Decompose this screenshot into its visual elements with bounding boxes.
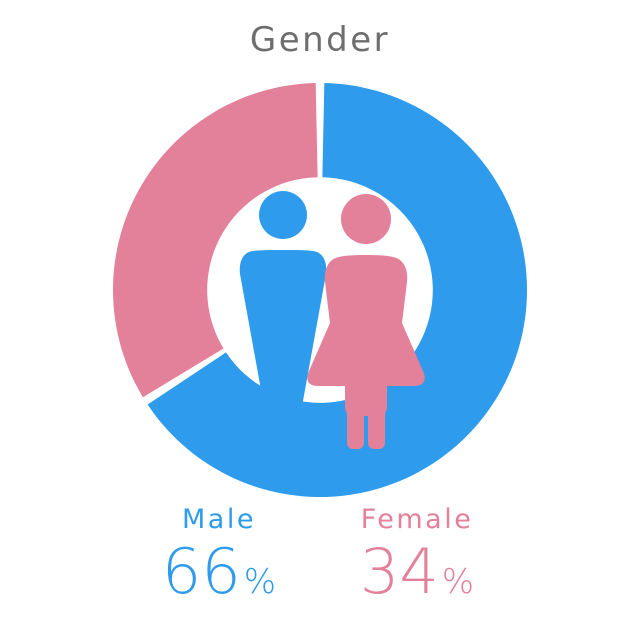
page-title: Gender [0,20,640,60]
donut-chart-svg [113,83,527,497]
legend: Male 66% Female 34% [0,503,640,633]
legend-value-female: 34% [297,541,537,603]
legend-percent-symbol-female: % [442,562,474,602]
legend-label-female: Female [297,503,537,537]
gender-infographic: Gender Male 66% [0,0,640,640]
legend-item-female[interactable]: Female 34% [297,503,537,603]
legend-percent-symbol-male: % [244,562,276,602]
legend-number-female: 34 [360,535,439,608]
legend-number-male: 66 [162,535,241,608]
donut-slice-female[interactable] [113,83,318,397]
donut-chart [113,83,527,497]
